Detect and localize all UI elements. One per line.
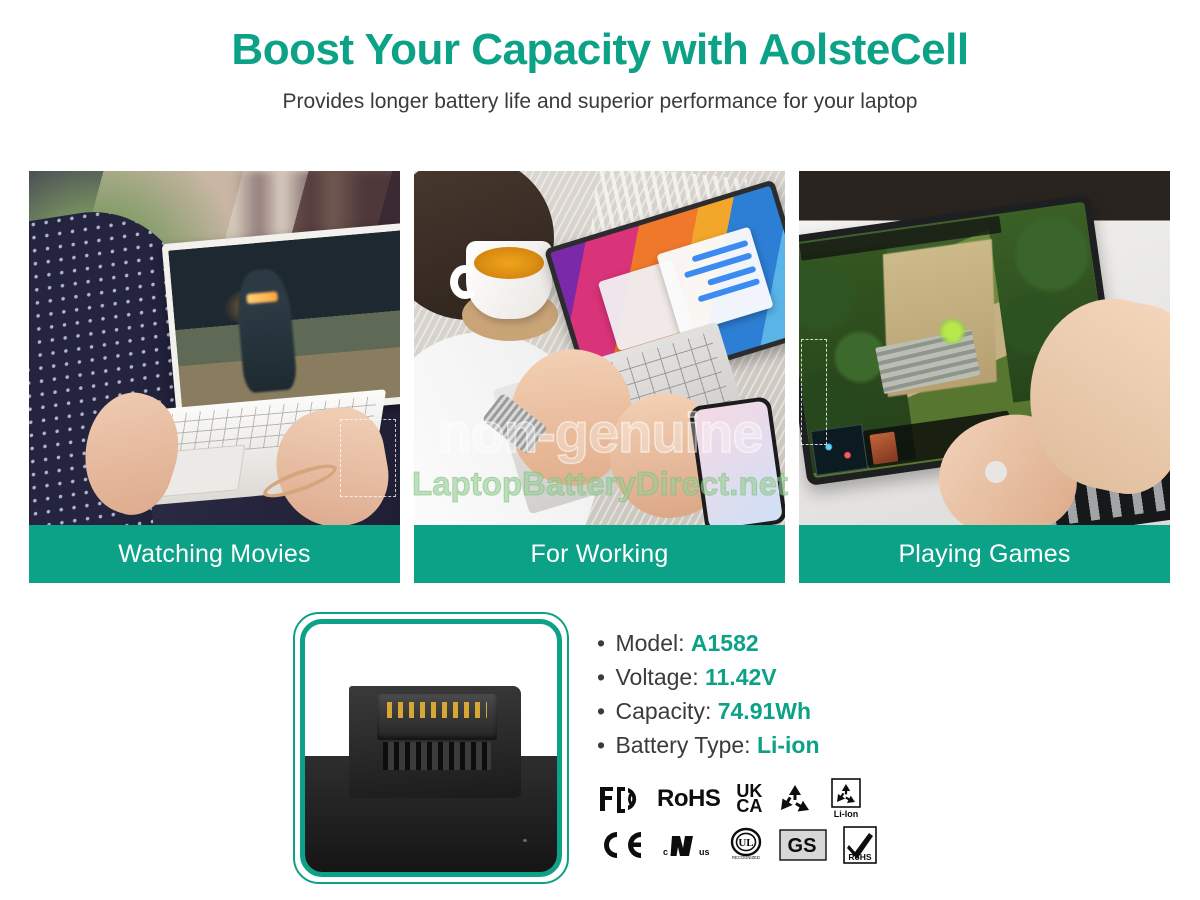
spec-label: Voltage: (615, 664, 698, 690)
bullet-icon: • (597, 630, 605, 656)
tea-liquid (474, 247, 544, 279)
tea-cup (466, 241, 552, 319)
banner-header: Boost Your Capacity with AolsteCell Prov… (0, 0, 1200, 114)
spec-value: A1582 (691, 630, 759, 656)
bullet-icon: • (597, 732, 605, 758)
movie-character (235, 267, 298, 394)
battery-image-frame (293, 612, 569, 884)
svg-text:UL: UL (738, 837, 753, 849)
spec-label: Model: (615, 630, 684, 656)
game-hero-portrait (870, 431, 898, 465)
spec-label: Battery Type: (615, 732, 750, 758)
photo-playing-games (799, 171, 1170, 525)
spec-value: 74.91Wh (718, 698, 811, 724)
spec-value: 11.42V (705, 664, 777, 690)
svg-text:us: us (699, 847, 710, 857)
connector-block (377, 694, 497, 740)
gold-connector-pins (387, 702, 487, 718)
fc-icon (597, 785, 641, 813)
surface-speck (523, 839, 527, 842)
product-detail-section: • Model: A1582 • Voltage: 11.42V • Capac… (0, 612, 1200, 900)
photo-watching-movies (29, 171, 400, 525)
card-caption-watching-movies: Watching Movies (29, 525, 400, 583)
recycle-icon (778, 784, 812, 814)
card-caption-for-working: For Working (414, 525, 785, 583)
feature-card-row: Watching Movies (29, 171, 1171, 583)
certification-row-1: RoHS UKCA (597, 776, 907, 822)
svg-text:RECOGNIZED: RECOGNIZED (732, 855, 760, 860)
bullet-icon: • (597, 698, 605, 724)
spec-item-capacity: • Capacity: 74.91Wh (597, 694, 907, 728)
spec-item-voltage: • Voltage: 11.42V (597, 660, 907, 694)
certification-row-2: c us UL RECOGNIZED (597, 822, 907, 868)
ce-icon (597, 830, 645, 860)
dashed-marker-box (340, 419, 396, 497)
ukca-icon: UKCA (736, 784, 762, 814)
cul-us-icon: c us (661, 830, 713, 860)
laptop-screen-movie (168, 230, 400, 416)
photo-for-working (414, 171, 785, 525)
dashed-marker-box (801, 339, 827, 445)
gs-icon: GS (779, 829, 827, 861)
spec-item-battery-type: • Battery Type: Li-ion (597, 728, 907, 762)
page-subtitle: Provides longer battery life and superio… (0, 90, 1200, 114)
feature-card-for-working[interactable]: For Working (414, 171, 785, 583)
rohs-icon: RoHS (657, 785, 720, 813)
svg-text:c: c (663, 847, 668, 857)
svg-text:Li-Ion: Li-Ion (834, 809, 859, 819)
bullet-icon: • (597, 664, 605, 690)
ul-icon: UL RECOGNIZED (729, 827, 763, 863)
page-title: Boost Your Capacity with AolsteCell (0, 26, 1200, 74)
svg-text:RoHS: RoHS (848, 852, 871, 862)
spec-column: • Model: A1582 • Voltage: 11.42V • Capac… (597, 612, 907, 900)
battery-connector-housing (349, 686, 521, 798)
spec-list: • Model: A1582 • Voltage: 11.42V • Capac… (597, 626, 907, 762)
feature-card-watching-movies[interactable]: Watching Movies (29, 171, 400, 583)
svg-text:GS: GS (788, 835, 817, 857)
li-ion-recycle-icon: Li-Ion (828, 778, 864, 820)
connector-teeth (383, 742, 491, 770)
battery-photo (300, 619, 562, 877)
card-caption-playing-games: Playing Games (799, 525, 1170, 583)
smartphone (688, 396, 785, 525)
spec-label: Capacity: (615, 698, 711, 724)
rohs-check-icon: RoHS (843, 826, 877, 864)
spec-value: Li-ion (757, 732, 820, 758)
certification-marks: RoHS UKCA (597, 776, 907, 868)
spec-item-model: • Model: A1582 (597, 626, 907, 660)
cup-handle (450, 265, 480, 299)
feature-card-playing-games[interactable]: Playing Games (799, 171, 1170, 583)
product-banner-page: Boost Your Capacity with AolsteCell Prov… (0, 0, 1200, 900)
